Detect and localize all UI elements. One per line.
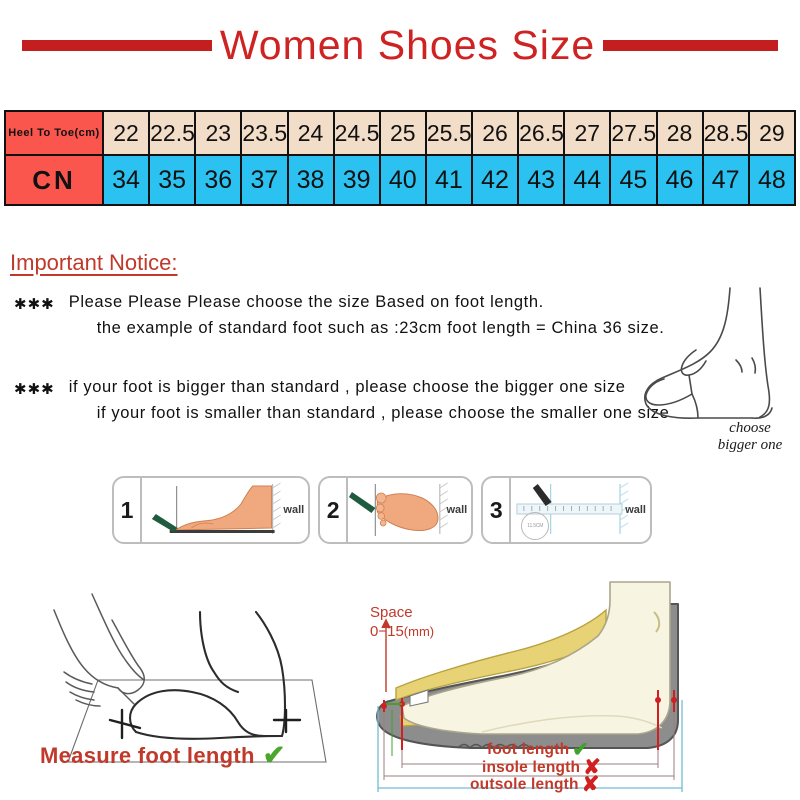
step-panel-3: 3 11 — [481, 476, 652, 544]
cell-cn-7: 41 — [426, 155, 472, 205]
title-rule-left — [22, 40, 212, 51]
cell-cn-13: 47 — [703, 155, 749, 205]
row-label-cn: CN — [5, 155, 103, 205]
step-2-illustration: wall — [348, 478, 471, 542]
space-gap-label: Space 0−15(mm) — [370, 604, 434, 642]
page-title-band: Women Shoes Size — [0, 14, 800, 76]
cell-cm-6: 25 — [380, 111, 426, 155]
choose-bigger-one-caption: choose bigger one — [690, 420, 800, 454]
space-label-line2: 0−15 — [370, 623, 404, 640]
notice-bullet-stars: ✱✱✱ — [14, 293, 55, 313]
table-row-heel-to-toe: Heel To Toe(cm) 22 22.5 23 23.5 24 24.5 … — [5, 111, 795, 155]
legend-outsole-length-label: outsole length — [470, 776, 579, 794]
cell-cm-9: 26.5 — [518, 111, 564, 155]
cell-cn-3: 37 — [241, 155, 287, 205]
cell-cm-3: 23.5 — [241, 111, 287, 155]
choose-bigger-line1: choose — [690, 420, 800, 437]
cell-cm-0: 22 — [103, 111, 149, 155]
step-3-illustration: 11.5CM wall — [511, 478, 650, 542]
step-number-3: 3 — [483, 478, 511, 542]
cell-cm-2: 23 — [195, 111, 241, 155]
measure-steps-row: 1 wall 2 — [112, 476, 652, 544]
cell-cm-11: 27.5 — [610, 111, 656, 155]
table-row-cn: CN 34 35 36 37 38 39 40 41 42 43 44 45 4… — [5, 155, 795, 205]
cell-cn-0: 34 — [103, 155, 149, 205]
step-panel-1: 1 wall — [112, 476, 310, 544]
cell-cn-4: 38 — [288, 155, 334, 205]
row-label-heel-to-toe: Heel To Toe(cm) — [5, 111, 103, 155]
notice-block-bigger-smaller: ✱✱✱ if your foot is bigger than standard… — [14, 378, 669, 423]
cell-cm-7: 25.5 — [426, 111, 472, 155]
cell-cn-12: 46 — [657, 155, 703, 205]
cell-cn-2: 36 — [195, 155, 241, 205]
page-title: Women Shoes Size — [212, 22, 603, 69]
cell-cn-6: 40 — [380, 155, 426, 205]
notice-line-2: the example of standard foot such as :23… — [69, 319, 665, 338]
space-label-line1: Space — [370, 604, 434, 623]
step-number-2: 2 — [320, 478, 348, 542]
measure-caption-text: Measure foot length — [40, 743, 255, 769]
notice-bullet-stars-2: ✱✱✱ — [14, 378, 55, 398]
notice-line-4: if your foot is smaller than standard , … — [69, 404, 670, 423]
wall-label-2: wall — [446, 504, 467, 516]
cell-cm-12: 28 — [657, 111, 703, 155]
cell-cm-14: 29 — [749, 111, 795, 155]
wall-label-3: wall — [625, 504, 646, 516]
cell-cn-10: 44 — [564, 155, 610, 205]
cell-cm-1: 22.5 — [149, 111, 195, 155]
check-icon: ✔ — [263, 742, 286, 769]
step-panel-2: 2 wall — [318, 476, 473, 544]
cross-icon-outsole-length: ✘ — [582, 774, 600, 795]
notice-block-size-choice: ✱✱✱ Please Please Please choose the size… — [14, 293, 664, 338]
size-conversion-table: Heel To Toe(cm) 22 22.5 23 23.5 24 24.5 … — [4, 110, 796, 206]
space-label-unit: (mm) — [404, 624, 434, 639]
important-notice-heading: Important Notice: — [10, 250, 178, 276]
choose-bigger-line2: bigger one — [690, 437, 800, 454]
cell-cn-11: 45 — [610, 155, 656, 205]
step-1-illustration: wall — [142, 478, 308, 542]
cell-cm-8: 26 — [472, 111, 518, 155]
notice-line-1: Please Please Please choose the size Bas… — [69, 293, 665, 312]
cell-cm-4: 24 — [288, 111, 334, 155]
wall-label-1: wall — [283, 504, 304, 516]
cell-cm-13: 28.5 — [703, 111, 749, 155]
notice-line-3: if your foot is bigger than standard , p… — [69, 378, 670, 397]
measure-foot-length-caption: Measure foot length ✔ — [40, 742, 286, 769]
cell-cn-9: 43 — [518, 155, 564, 205]
cell-cn-5: 39 — [334, 155, 380, 205]
legend-outsole-length: outsole length ✘ — [470, 774, 600, 795]
cell-cm-5: 24.5 — [334, 111, 380, 155]
cell-cn-1: 35 — [149, 155, 195, 205]
cell-cn-14: 48 — [749, 155, 795, 205]
cell-cn-8: 42 — [472, 155, 518, 205]
title-rule-right — [603, 40, 778, 51]
step-number-1: 1 — [114, 478, 142, 542]
cell-cm-10: 27 — [564, 111, 610, 155]
